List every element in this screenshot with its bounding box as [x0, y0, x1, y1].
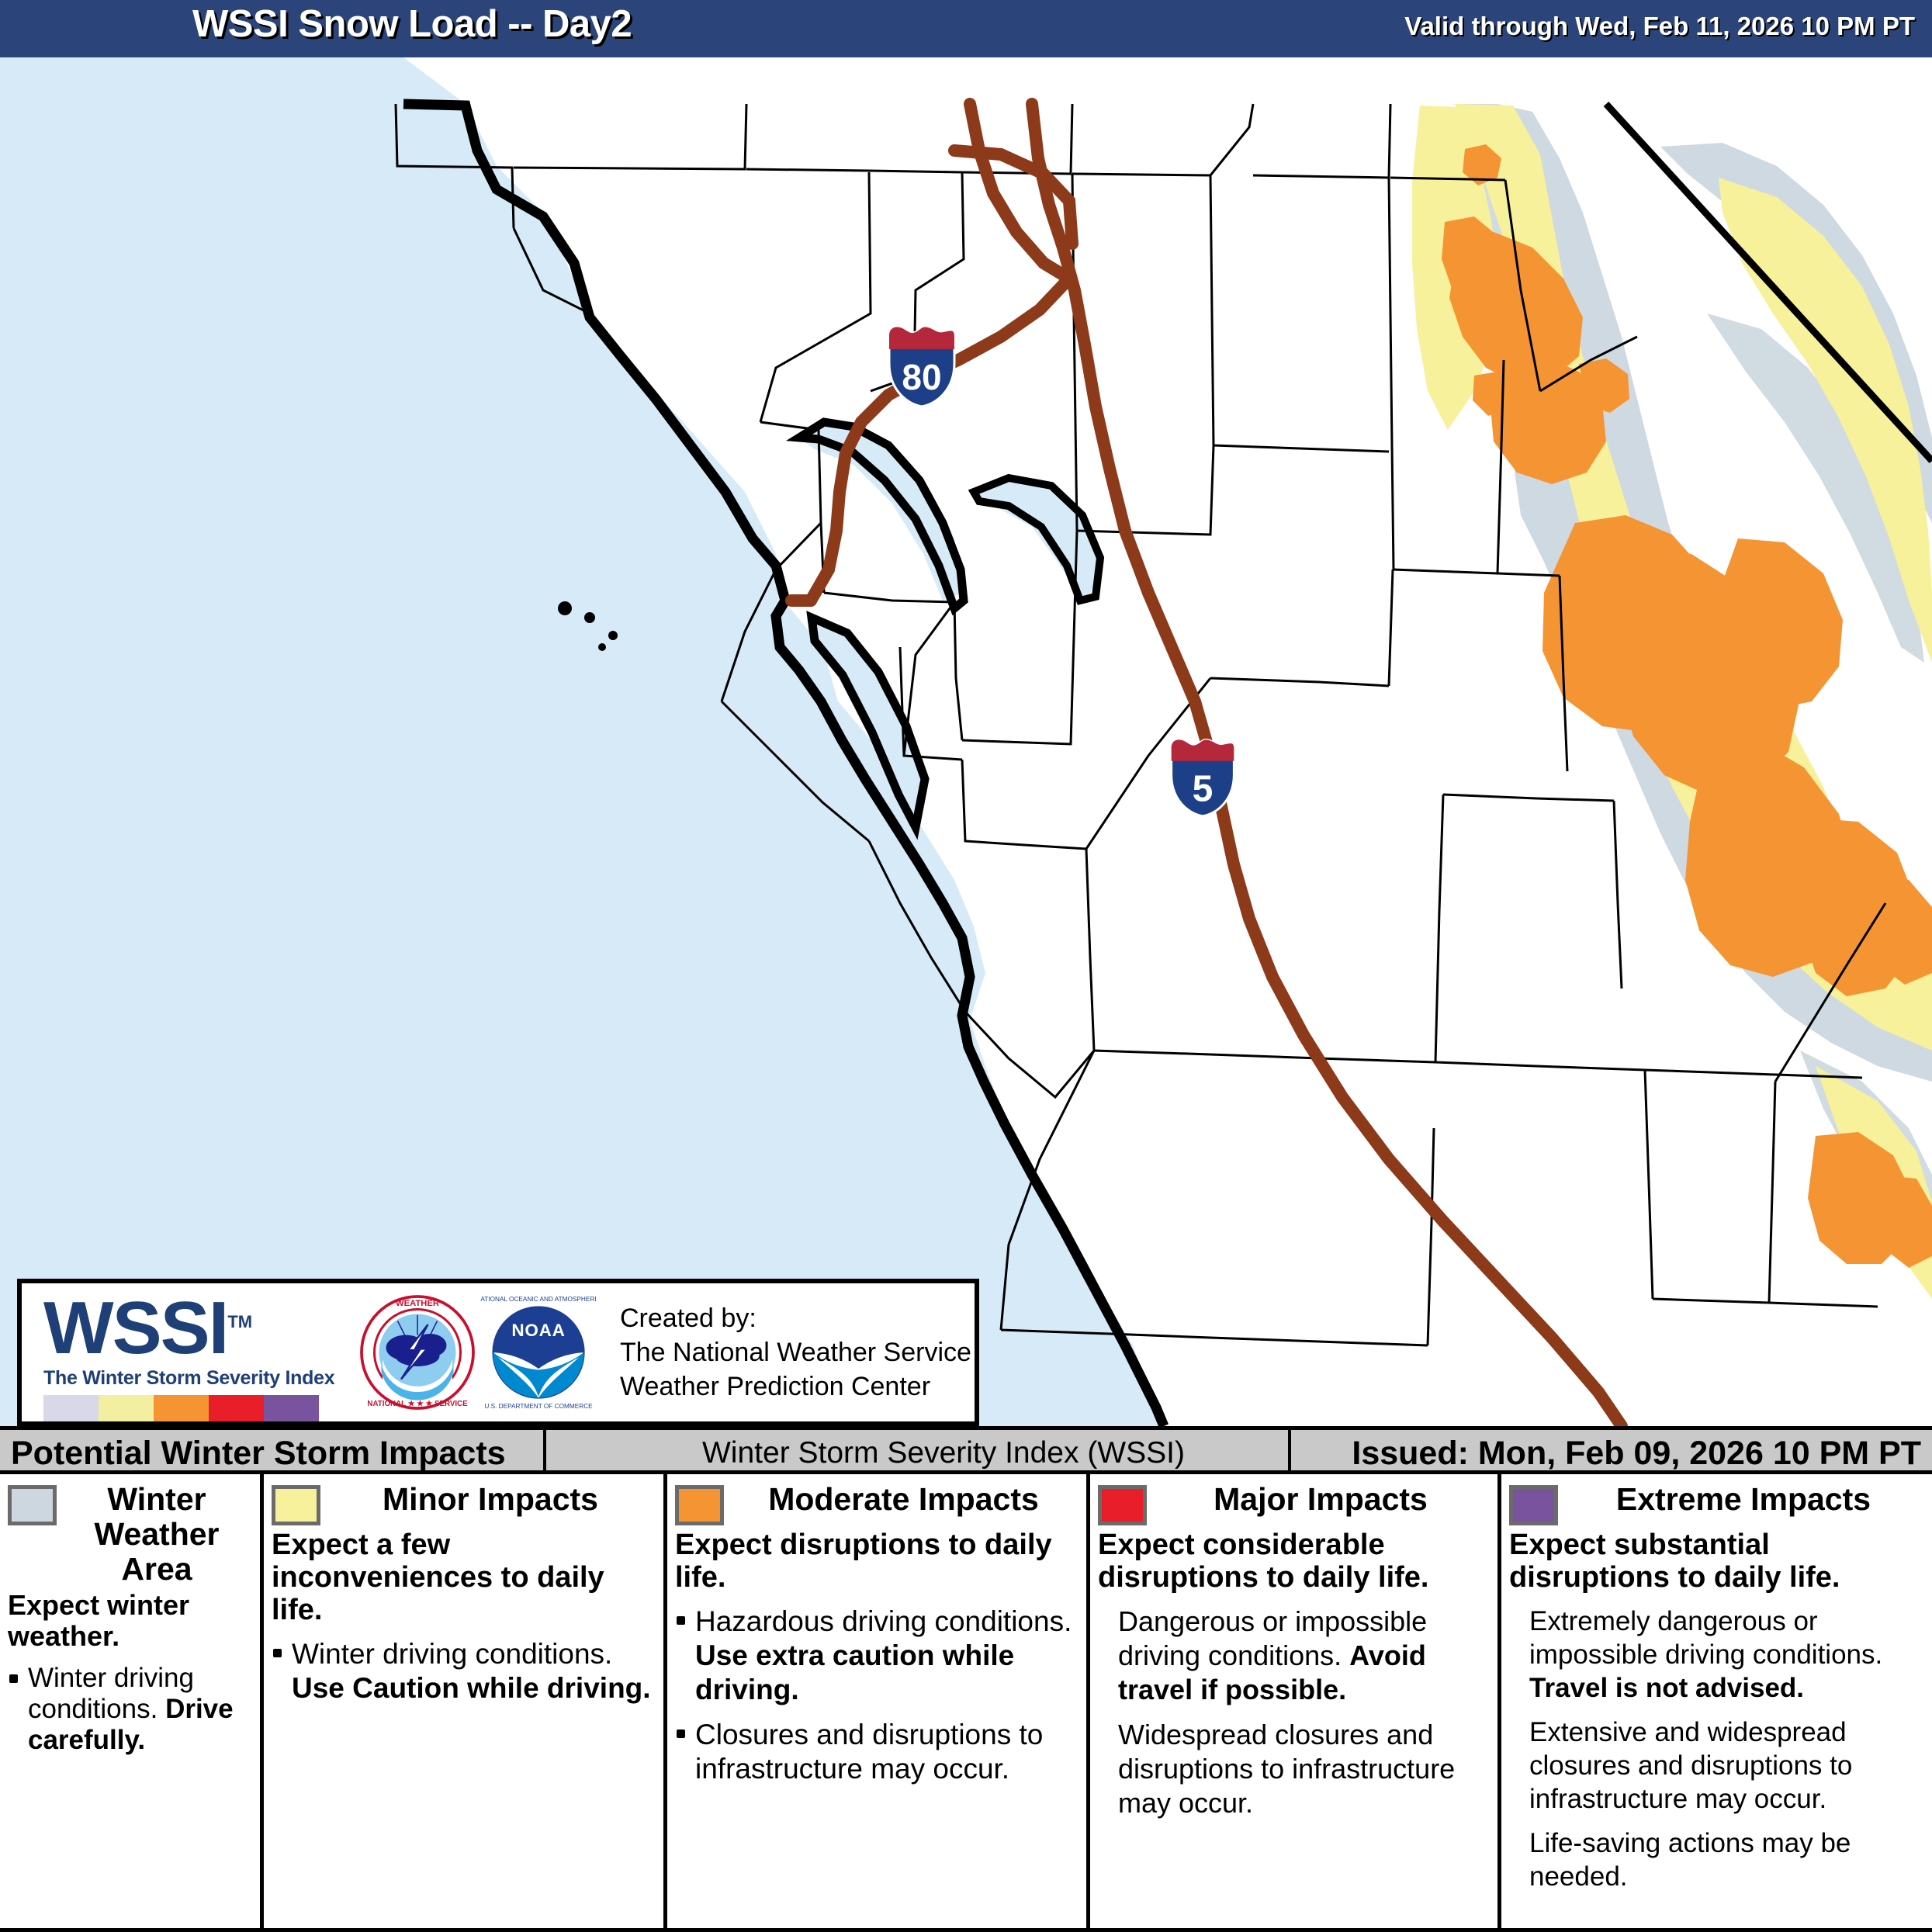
legend-title: Major Impacts: [1147, 1482, 1490, 1517]
list-item-text: Life-saving actions may be needed.: [1529, 1828, 1851, 1892]
legend-column-minor-impacts[interactable]: Minor Impacts Expect a few inconvenience…: [264, 1474, 667, 1928]
list-item-text: Winter driving conditions.: [292, 1638, 612, 1670]
list-item-emphasis: Travel is not advised.: [1529, 1673, 1804, 1703]
list-item: Winter driving conditions. Drive careful…: [8, 1663, 252, 1756]
list-item-text: Extensive and widespread closures and di…: [1529, 1717, 1852, 1814]
legend-title: Moderate Impacts: [724, 1482, 1079, 1517]
list-item-text: Widespread closures and disruptions to i…: [1118, 1719, 1455, 1819]
legend-swatch: [1098, 1485, 1147, 1525]
list-item-emphasis: Use Caution while driving.: [292, 1672, 651, 1704]
list-item: Closures and disruptions to infrastructu…: [675, 1718, 1079, 1786]
legend-lead: Expect considerable disruptions to daily…: [1098, 1529, 1490, 1594]
island-dot: [558, 601, 572, 615]
list-item-emphasis: Use extra caution while driving.: [695, 1639, 1014, 1705]
bullet-icon: [9, 1674, 18, 1683]
valid-through-text: Valid through Wed, Feb 11, 2026 10 PM PT: [1404, 12, 1915, 41]
scale-swatch-moderate: [154, 1395, 209, 1421]
svg-text:NOAA: NOAA: [511, 1321, 565, 1340]
legend-bullet-list: Hazardous driving conditions. Use extra …: [675, 1605, 1079, 1786]
legend-header: Winter Weather Area: [8, 1482, 252, 1587]
island-dot: [598, 643, 606, 651]
island-dot: [584, 612, 595, 623]
wssi-credit-box: WSSITM The Winter Storm Severity Index: [17, 1279, 979, 1426]
legend-bullet-list: Dangerous or impossible driving conditio…: [1098, 1605, 1490, 1820]
list-item: Life-saving actions may be needed.: [1509, 1826, 1924, 1893]
wssi-snow-load-map-page: WSSI Snow Load -- Day2 Valid through Wed…: [0, 0, 1932, 1932]
legend-lead: Expect disruptions to daily life.: [675, 1529, 1079, 1594]
legend-swatch: [272, 1485, 320, 1525]
created-by-line-1: Created by:: [620, 1301, 971, 1335]
legend-swatch: [1509, 1485, 1558, 1525]
wssi-color-scale: [43, 1395, 319, 1421]
legend-bullet-list: Winter driving conditions. Use Caution w…: [272, 1637, 656, 1705]
svg-text:NATIONAL OCEANIC AND ATMOSPHER: NATIONAL OCEANIC AND ATMOSPHERIC: [480, 1296, 597, 1303]
list-item: Hazardous driving conditions. Use extra …: [675, 1605, 1079, 1707]
island-dot: [608, 631, 618, 640]
legend-title: Minor Impacts: [320, 1482, 656, 1517]
legend-column-moderate-impacts[interactable]: Moderate Impacts Expect disruptions to d…: [667, 1474, 1090, 1928]
issued-timestamp: Issued: Mon, Feb 09, 2026 10 PM PT: [1352, 1435, 1921, 1473]
list-item-text: Extremely dangerous or impossible drivin…: [1529, 1606, 1882, 1670]
national-weather-service-seal: WEATHER NATIONAL ★ ★ ★ SERVICE: [359, 1294, 476, 1411]
list-item: Widespread closures and disruptions to i…: [1098, 1718, 1490, 1820]
map-graphic: [0, 57, 1932, 1426]
bullet-icon: [677, 1616, 685, 1625]
impact-legend: Winter Weather Area Expect winter weathe…: [0, 1474, 1932, 1932]
created-by-block: Created by: The National Weather Service…: [620, 1301, 971, 1404]
scale-swatch-extreme: [264, 1395, 319, 1421]
list-item-text: Hazardous driving conditions.: [695, 1605, 1072, 1637]
created-by-line-2: The National Weather Service: [620, 1335, 971, 1369]
wssi-tm-mark: TM: [227, 1312, 252, 1331]
list-item: Dangerous or impossible driving conditio…: [1098, 1605, 1490, 1707]
legend-swatch: [8, 1485, 57, 1525]
page-title: WSSI Snow Load -- Day2: [192, 2, 632, 46]
status-divider: [543, 1430, 546, 1470]
wssi-wordmark: WSSITM: [43, 1285, 342, 1366]
status-middle-label: Winter Storm Severity Index (WSSI): [702, 1436, 1185, 1470]
legend-header: Major Impacts: [1098, 1482, 1490, 1525]
wssi-subtitle: The Winter Storm Severity Index: [43, 1367, 342, 1390]
legend-header: Moderate Impacts: [675, 1482, 1079, 1525]
map-canvas[interactable]: Sacramento San Francisco San Jose Fresno…: [0, 57, 1932, 1426]
scale-swatch-major: [209, 1395, 264, 1421]
bullet-icon: [273, 1649, 282, 1657]
wssi-wordmark-text: WSSI: [43, 1286, 227, 1369]
svg-text:WEATHER: WEATHER: [396, 1299, 439, 1308]
legend-column-winter-weather-area[interactable]: Winter Weather Area Expect winter weathe…: [0, 1474, 264, 1928]
legend-swatch: [675, 1485, 724, 1525]
svg-text:NATIONAL ★ ★ ★ SERVICE: NATIONAL ★ ★ ★ SERVICE: [367, 1400, 468, 1408]
scale-swatch-minor: [99, 1395, 154, 1421]
header-bar: WSSI Snow Load -- Day2 Valid through Wed…: [0, 0, 1932, 57]
legend-header: Minor Impacts: [272, 1482, 656, 1525]
noaa-seal: NOAA NATIONAL OCEANIC AND ATMOSPHERIC U.…: [480, 1294, 597, 1411]
wssi-logo: WSSITM The Winter Storm Severity Index: [43, 1285, 342, 1421]
list-item: Extensive and widespread closures and di…: [1509, 1716, 1924, 1816]
svg-text:U.S. DEPARTMENT OF COMMERCE: U.S. DEPARTMENT OF COMMERCE: [484, 1403, 593, 1410]
scale-swatch-winter: [43, 1395, 99, 1421]
legend-title: Extreme Impacts: [1558, 1482, 1924, 1517]
legend-header: Extreme Impacts: [1509, 1482, 1924, 1525]
list-item-text: Closures and disruptions to infrastructu…: [695, 1719, 1043, 1785]
legend-lead: Expect winter weather.: [8, 1590, 252, 1652]
status-bar: Potential Winter Storm Impacts Winter St…: [0, 1426, 1932, 1474]
legend-bullet-list: Extremely dangerous or impossible drivin…: [1509, 1605, 1924, 1893]
legend-title: Winter Weather Area: [57, 1482, 252, 1587]
legend-lead: Expect substantial disruptions to daily …: [1509, 1529, 1924, 1594]
legend-column-extreme-impacts[interactable]: Extreme Impacts Expect substantial disru…: [1501, 1474, 1932, 1928]
shield-route-number: 80: [902, 357, 941, 397]
status-divider: [1288, 1430, 1291, 1470]
legend-column-major-impacts[interactable]: Major Impacts Expect considerable disrup…: [1090, 1474, 1501, 1928]
legend-lead: Expect a few inconveniences to daily lif…: [272, 1529, 656, 1626]
shield-route-number: 5: [1193, 769, 1214, 810]
list-item: Extremely dangerous or impossible drivin…: [1509, 1605, 1924, 1705]
bullet-icon: [677, 1729, 685, 1738]
legend-bullet-list: Winter driving conditions. Drive careful…: [8, 1663, 252, 1756]
created-by-line-3: Weather Prediction Center: [620, 1369, 971, 1404]
status-left-label: Potential Winter Storm Impacts: [11, 1435, 506, 1473]
list-item: Winter driving conditions. Use Caution w…: [272, 1637, 656, 1705]
